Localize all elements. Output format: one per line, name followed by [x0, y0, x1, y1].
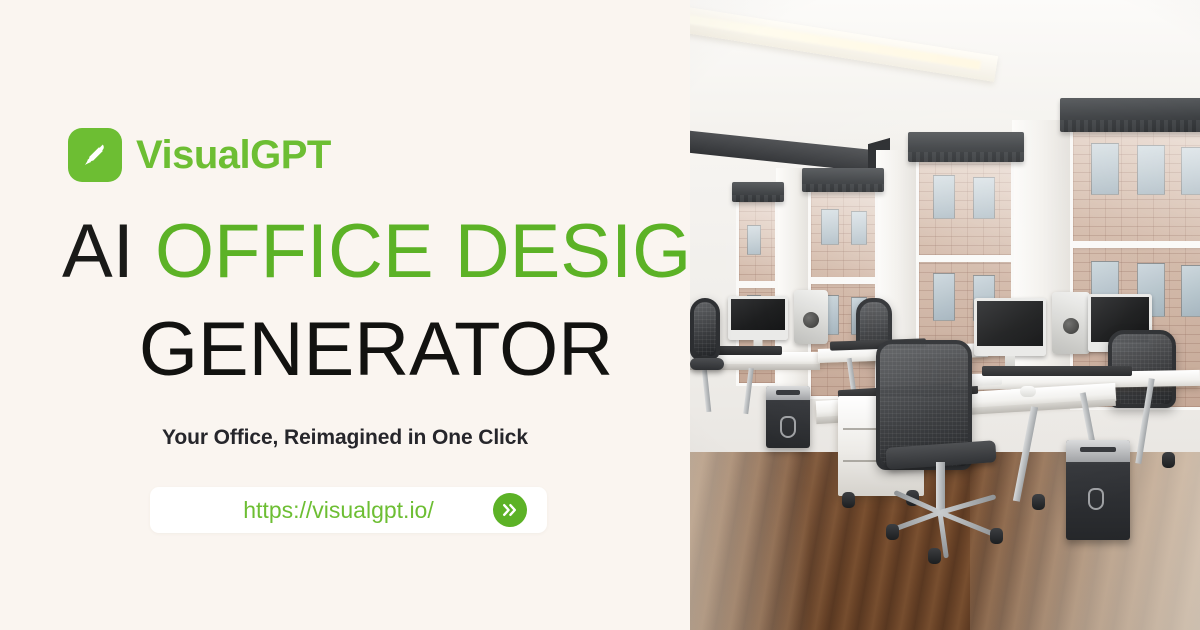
tagline: Your Office, Reimagined in One Click: [0, 426, 690, 450]
promo-banner: VisualGPT AI OFFICE DESIGN GENERATOR You…: [0, 0, 1200, 630]
desk-caster-1: [1032, 494, 1045, 510]
imac-stand-hole: [803, 312, 819, 328]
window-valance-3: [908, 132, 1024, 162]
chair-caster: [886, 524, 899, 540]
imac-monitor-main-1: [974, 298, 1046, 356]
window-valance-1: [732, 182, 784, 202]
imac-screen: [728, 296, 788, 340]
headline-line-2: GENERATOR: [62, 312, 690, 388]
office-chair-background-1: [690, 298, 720, 360]
mouse: [1020, 386, 1036, 397]
office-scene-illustration: [690, 0, 1200, 630]
imac-stand-hole: [1063, 318, 1079, 334]
headline-prefix: AI: [62, 209, 134, 294]
shredder-badge: [780, 416, 796, 438]
chair-seat-background-1: [690, 358, 724, 370]
chair-caster: [928, 548, 941, 564]
pedestal-caster: [842, 492, 855, 508]
floor-light-spill: [690, 452, 810, 630]
window-valance-4: [1060, 98, 1200, 132]
imac-monitor-main-2-back: [1052, 292, 1090, 354]
cta-url-button[interactable]: https://visualgpt.io/: [150, 487, 547, 533]
imac-screen: [974, 298, 1046, 356]
headline-line-1: AI OFFICE DESIGN: [62, 214, 690, 290]
chair-mesh: [694, 302, 716, 356]
office-photo: [690, 0, 1200, 630]
desk-caster-2: [1162, 452, 1175, 468]
brand-logo-lockup[interactable]: VisualGPT: [68, 128, 331, 182]
paper-shredder-foreground: [1066, 440, 1130, 540]
left-content-panel: VisualGPT AI OFFICE DESIGN GENERATOR You…: [0, 0, 690, 630]
page-title: AI OFFICE DESIGN GENERATOR: [62, 214, 690, 388]
window-valance-2: [802, 168, 884, 192]
wall-pier-3: [1012, 120, 1070, 405]
desk-mat-main-rear: [982, 366, 1132, 376]
chair-caster: [990, 528, 1003, 544]
double-chevron-right-icon[interactable]: [493, 493, 527, 527]
headline-highlight: OFFICE DESIGN: [155, 209, 746, 294]
imac-monitor-back-2: [794, 290, 828, 344]
shredder-badge: [1088, 488, 1104, 510]
shredder-slot: [776, 390, 801, 395]
cta-url-text: https://visualgpt.io/: [150, 497, 493, 524]
imac-monitor-back-1: [728, 296, 788, 340]
chair-gas-cylinder: [936, 462, 945, 514]
brand-name: VisualGPT: [136, 135, 331, 175]
pencil-marker-icon: [68, 128, 122, 182]
shredder-slot: [1080, 447, 1116, 452]
paper-shredder-background: [766, 386, 810, 448]
